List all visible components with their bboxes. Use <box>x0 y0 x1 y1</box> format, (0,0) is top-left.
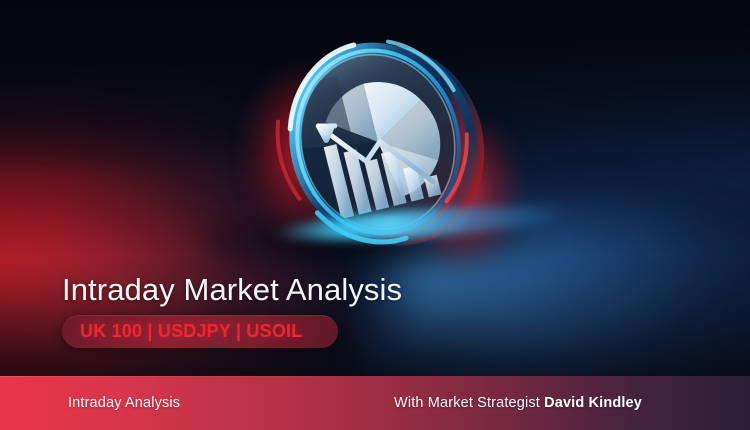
banner-stage: Intraday Market Analysis UK 100 | USDJPY… <box>0 0 750 430</box>
instruments-pill-label: UK 100 | USDJPY | USOIL <box>80 321 302 342</box>
instruments-pill: UK 100 | USDJPY | USOIL <box>62 315 338 348</box>
footer-bar: Intraday Analysis With Market Strategist… <box>0 376 750 430</box>
footer-left-label: Intraday Analysis <box>68 395 180 411</box>
footer-presenter: With Market Strategist David Kindley <box>394 395 642 411</box>
analytics-coin-icon <box>262 38 494 256</box>
page-title: Intraday Market Analysis <box>62 272 402 308</box>
footer-presenter-name: David Kindley <box>544 395 642 411</box>
footer-top-highlight <box>0 376 750 377</box>
footer-presenter-prefix: With Market Strategist <box>394 395 544 411</box>
